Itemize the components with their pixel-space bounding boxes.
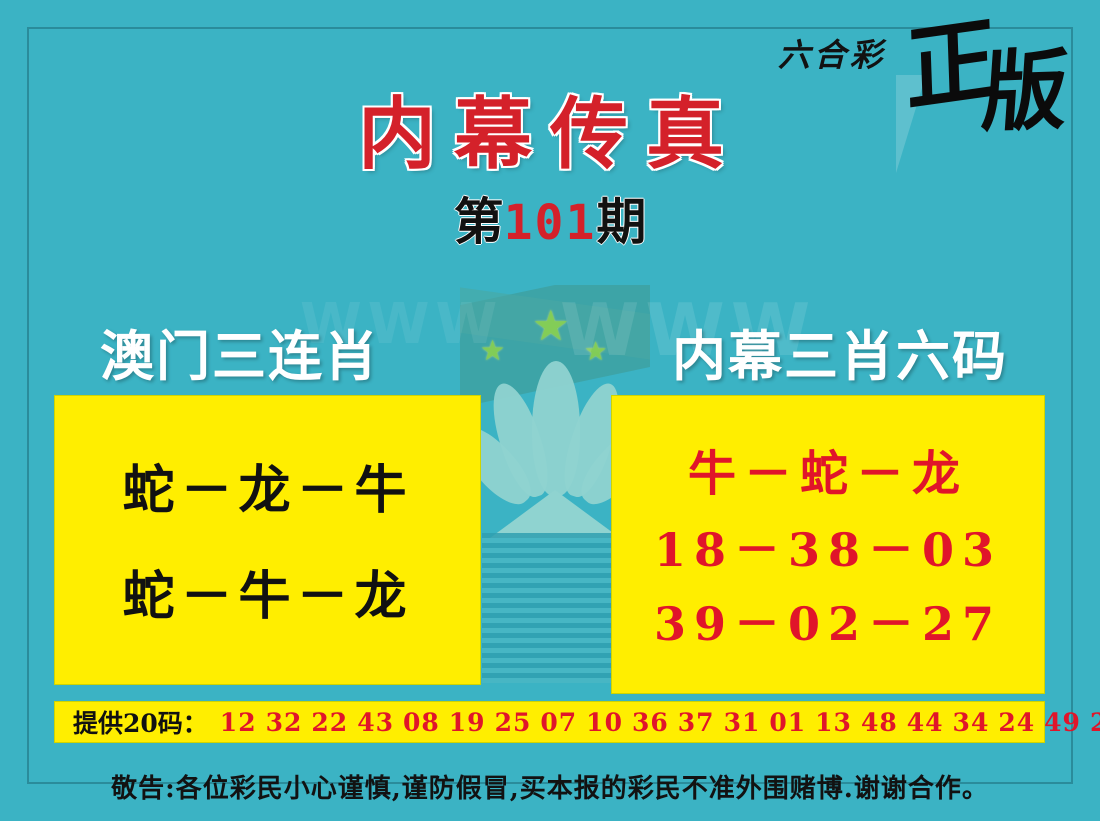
issue-suffix: 期 [596, 192, 646, 251]
codes-list: 1232224308192507103637310113484434244920 [220, 708, 1100, 737]
code-number: 22 [311, 708, 348, 737]
code-number: 32 [266, 708, 303, 737]
issue-prefix: 第 [454, 192, 504, 251]
code-number: 36 [632, 708, 669, 737]
code-number: 43 [357, 708, 394, 737]
page-title: 内幕传真 [0, 72, 1100, 184]
lottery-poster: ★ ★ ★ WWW WWW 六合彩 正版 内幕传真 第101期 澳门三连肖 内幕… [0, 0, 1100, 821]
lotus-base [490, 490, 620, 538]
water-lines [482, 533, 632, 683]
code-number: 24 [998, 708, 1035, 737]
prediction-row: 蛇－龙－牛 [55, 448, 480, 523]
code-number: 10 [586, 708, 623, 737]
codes-label: 提供20码： [73, 704, 208, 740]
prediction-row: 牛－蛇－龙 [612, 434, 1044, 504]
code-number: 31 [724, 708, 761, 737]
footer-notice: 敬告:各位彩民小心谨慎,谨防假冒,买本报的彩民不准外围赌博.谢谢合作。 [0, 768, 1100, 805]
issue-label: 第101期 [0, 182, 1100, 254]
brand-text: 六合彩 [778, 30, 886, 76]
code-number: 25 [495, 708, 532, 737]
section-heading-left: 澳门三连肖 [100, 312, 380, 391]
prediction-panel-left: 蛇－龙－牛 蛇－牛－龙 [55, 396, 480, 684]
prediction-row: 39－02－27 [612, 588, 1044, 654]
code-number: 19 [449, 708, 486, 737]
section-heading-right: 内幕三肖六码 [672, 312, 1008, 391]
code-number: 44 [907, 708, 944, 737]
prediction-row: 18－38－03 [612, 514, 1044, 580]
issue-number: 101 [504, 195, 597, 251]
code-number: 48 [861, 708, 898, 737]
code-number: 08 [403, 708, 440, 737]
prediction-panel-right: 牛－蛇－龙 18－38－03 39－02－27 [612, 396, 1044, 693]
code-number: 13 [815, 708, 852, 737]
code-number: 01 [769, 708, 806, 737]
prediction-row: 蛇－牛－龙 [55, 554, 480, 629]
code-number: 49 [1044, 708, 1081, 737]
code-number: 37 [678, 708, 715, 737]
code-number: 34 [953, 708, 990, 737]
codes-bar: 提供20码： 123222430819250710363731011348443… [55, 702, 1044, 742]
code-number: 12 [220, 708, 257, 737]
code-number: 07 [540, 708, 577, 737]
code-number: 20 [1090, 708, 1100, 737]
